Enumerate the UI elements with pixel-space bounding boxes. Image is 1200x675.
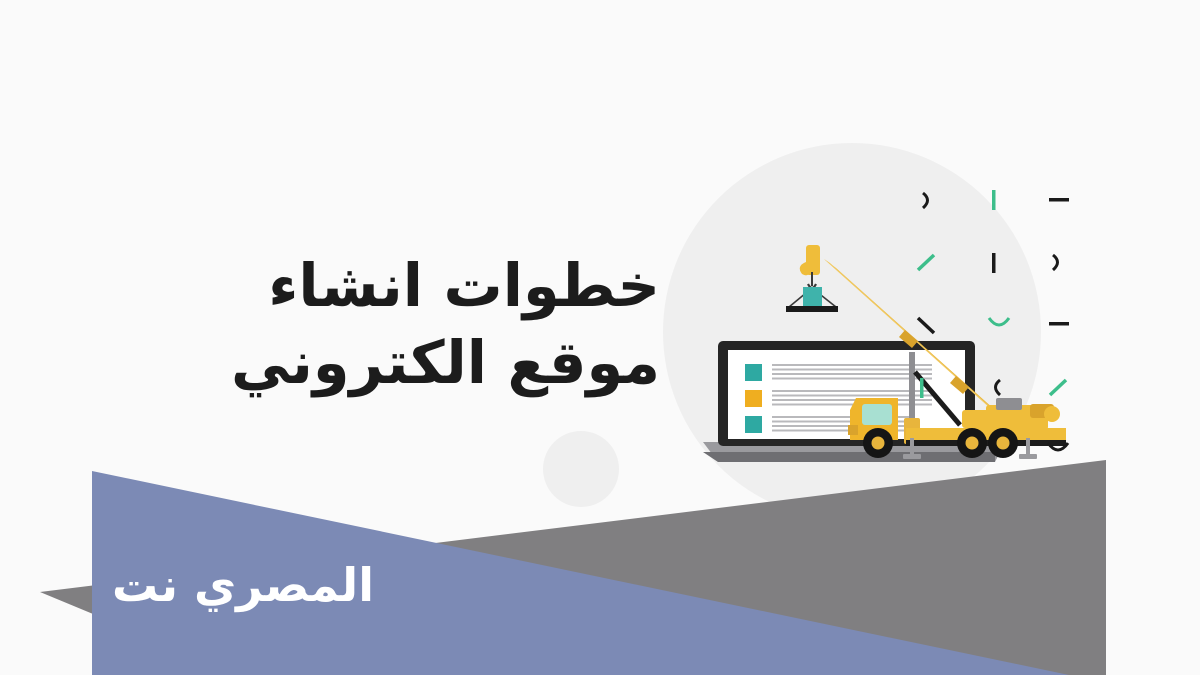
poster-canvas: خطوات انشاء موقع الكتروني المصري نت (0, 0, 1200, 675)
site-logo[interactable]: المصري نت (112, 558, 374, 612)
page-title-line-1: خطوات انشاء (140, 248, 660, 325)
page-title: خطوات انشاء موقع الكتروني (140, 248, 660, 401)
page-title-line-2: موقع الكتروني (140, 325, 660, 402)
